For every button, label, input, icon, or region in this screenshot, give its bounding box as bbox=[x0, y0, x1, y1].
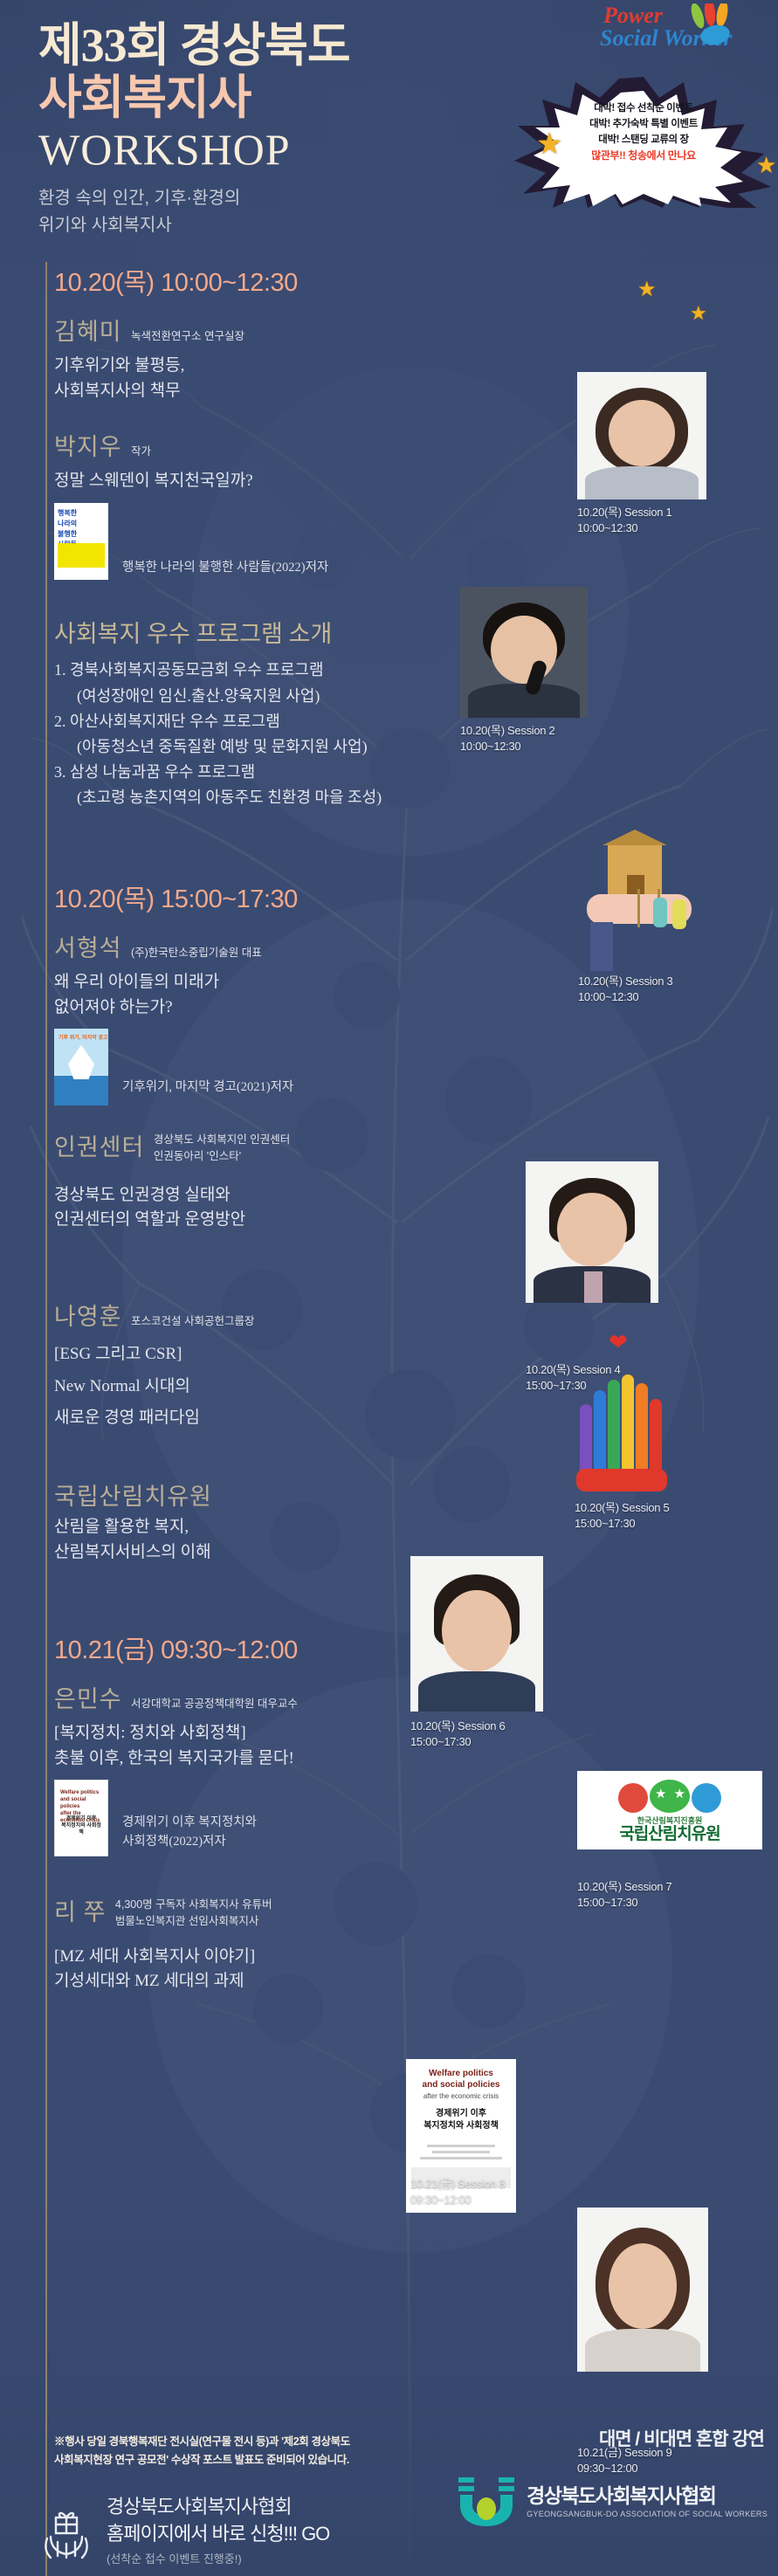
heart-icon: ❤ bbox=[609, 1329, 628, 1356]
speaker-affiliation-9-line1: 4,300명 구독자 사회복지사 유튜버 bbox=[115, 1897, 272, 1912]
session-tag-7-line2: 15:00~17:30 bbox=[577, 1895, 671, 1911]
footer-notice: ※행사 당일 경북행복재단 전시실(연구물 전시 등)과 '제2회 경상북도 사… bbox=[54, 2433, 568, 2470]
program-item-3: 3. 삼성 나눔과꿈 우수 프로그램 bbox=[54, 760, 762, 785]
session-tag-5: 10.20(목) Session 5 15:00~17:30 bbox=[575, 1500, 669, 1531]
apply-line3: (선착순 접수 이벤트 진행중!) bbox=[107, 2550, 329, 2566]
speaker-name-2: 박지우 bbox=[54, 428, 122, 462]
association-name-ko: 경상북도사회복지사협회 bbox=[527, 2485, 768, 2507]
speaker-photo-1 bbox=[577, 372, 706, 499]
star-icon-1: ★ bbox=[536, 129, 562, 159]
book3-cover-en2: and social policies bbox=[60, 1796, 102, 1810]
workshop-poster: Power Social Worker 제33회 경상북도 사회복지사 WORK… bbox=[0, 0, 778, 2576]
speaker-name-8: 은민수 bbox=[54, 1680, 122, 1714]
session-tag-1-line2: 10:00~12:30 bbox=[577, 520, 671, 536]
program-item-1: 1. 경북사회복지공동모금회 우수 프로그램 bbox=[54, 658, 762, 683]
session-tag-5-line2: 15:00~17:30 bbox=[575, 1516, 669, 1532]
book2-cover-line1: 기후 위기, bbox=[59, 1036, 80, 1041]
book1-cover-line2: 나라의 bbox=[58, 519, 105, 529]
speaker-name-7: 국립산림치유원 bbox=[54, 1477, 212, 1512]
book-citation-4: 기후위기, 마지막 경고(2021)저자 bbox=[122, 1078, 293, 1106]
session-tag-9-line1: 10.21(금) Session 9 bbox=[577, 2445, 671, 2461]
speaker-topic-9-line1: [MZ 세대 사회복지사 이야기] bbox=[54, 1945, 762, 1970]
speaker-affiliation-1: 녹색전환연구소 연구실장 bbox=[131, 328, 244, 344]
hand-house-illustration bbox=[578, 844, 718, 983]
subtitle-line2: 위기와 사회복지사 bbox=[38, 212, 778, 239]
book-citation-8-line1: 경제위기 이후 복지정치와 bbox=[122, 1814, 257, 1833]
session-tag-7-line1: 10.20(목) Session 7 bbox=[577, 1879, 671, 1895]
speaker-photo-2 bbox=[460, 587, 588, 718]
timeslot-3: 10.21(금) 09:30~12:00 bbox=[54, 1629, 762, 1666]
star-icon-2: ★ bbox=[756, 154, 776, 176]
speaker-affiliation-6: 포스코건설 사회공헌그룹장 bbox=[131, 1313, 254, 1329]
association-mark-icon bbox=[455, 2474, 518, 2530]
session-tag-1: 10.20(목) Session 1 10:00~12:30 bbox=[577, 505, 671, 535]
session-tag-9-line2: 09:30~12:00 bbox=[577, 2461, 671, 2476]
speaker-block-9: 리 쭈 4,300명 구독자 사회복지사 유튜버 범물노인복지관 선임사회복지사… bbox=[54, 1893, 762, 2033]
speaker-photo-4 bbox=[526, 1161, 658, 1303]
star-icon-3: ★ bbox=[637, 279, 657, 300]
session-tag-6-line1: 10.20(목) Session 6 bbox=[410, 1718, 505, 1734]
speaker-topic-6-line1: [ESG 그리고 CSR] bbox=[54, 1339, 762, 1370]
speaker-affiliation-8: 서강대학교 공공정책대학원 대우교수 bbox=[131, 1696, 298, 1712]
power-social-worker-logo: Power Social Worker bbox=[600, 5, 766, 68]
book-citation-8-line2: 사회정책(2022)저자 bbox=[122, 1833, 257, 1852]
leaves-icon bbox=[684, 3, 754, 51]
session-tag-1-line1: 10.20(목) Session 1 bbox=[577, 505, 671, 520]
program-section: 사회복지 우수 프로그램 소개 1. 경북사회복지공동모금회 우수 프로그램 (… bbox=[54, 615, 762, 833]
session-tag-6: 10.20(목) Session 6 15:00~17:30 bbox=[410, 1718, 505, 1749]
footer-notice-line2: 사회복지현장 연구 공모전' 수상작 포스트 발표도 준비되어 있습니다. bbox=[54, 2451, 568, 2469]
program-section-title: 사회복지 우수 프로그램 소개 bbox=[54, 615, 762, 649]
apply-line1: 경상북도사회복지사협회 bbox=[107, 2493, 329, 2521]
session-tag-7: 10.20(목) Session 7 15:00~17:30 bbox=[577, 1879, 671, 1910]
speaker-topic-9-line2: 기성세대와 MZ 세대의 과제 bbox=[54, 1969, 762, 1994]
speaker-name-5: 인권센터 bbox=[54, 1128, 144, 1162]
speaker-topic-7-line2: 산림복지서비스의 이해 bbox=[54, 1540, 762, 1566]
speaker-name-4: 서형석 bbox=[54, 929, 122, 963]
speaker-name-9: 리 쭈 bbox=[54, 1893, 106, 1927]
book3-cover-ko2: 복지정치와 사회정책 bbox=[60, 1822, 102, 1836]
speaker-photo-9 bbox=[577, 2208, 708, 2372]
speaker-affiliation-2: 작가 bbox=[131, 444, 151, 459]
book2-cover-line2: 마지막 경고 bbox=[82, 1036, 107, 1041]
book-cover-happy-country: 행복한 나라의 불행한 사람들 bbox=[54, 503, 108, 580]
speaker-topic-8-line2: 촛불 이후, 한국의 복지국가를 묻다! bbox=[54, 1746, 762, 1772]
speaker-topic-8-line1: [복지정치: 정치와 사회정책] bbox=[54, 1721, 762, 1746]
session-tag-2-line1: 10.20(목) Session 2 bbox=[460, 723, 554, 739]
speaker-name-1: 김혜미 bbox=[54, 313, 122, 347]
large-book-ko2: 복지정치와 사회정책 bbox=[413, 2120, 509, 2132]
book-cover-climate-warning: 기후 위기, 마지막 경고 bbox=[54, 1029, 108, 1105]
speaker-photo-6 bbox=[410, 1556, 543, 1712]
session-tag-4-line2: 15:00~17:30 bbox=[526, 1378, 620, 1394]
forest-logo-main: 국립산림치유원 bbox=[586, 1826, 754, 1844]
session-tag-3-line1: 10.20(목) Session 3 bbox=[578, 974, 672, 989]
large-book-en2: and social policies bbox=[413, 2079, 509, 2090]
program-item-2-sub: (아동청소년 중독질환 예방 및 문화지원 사업) bbox=[54, 734, 762, 760]
session-tag-8-line2: 09:30~12:00 bbox=[410, 2192, 505, 2208]
session-tag-4-line1: 10.20(목) Session 4 bbox=[526, 1362, 620, 1378]
book3-cover-en1: Welfare politics bbox=[60, 1789, 102, 1796]
book1-cover-line1: 행복한 bbox=[58, 508, 105, 519]
book1-cover-line3: 불행한 bbox=[58, 529, 105, 540]
book-cover-welfare-politics: Welfare politics and social policies aft… bbox=[54, 1780, 108, 1856]
book-citation-2: 행복한 나라의 불행한 사람들(2022)저자 bbox=[122, 559, 328, 580]
program-item-3-sub: (초고령 농촌지역의 아동주도 친환경 마을 조성) bbox=[54, 785, 762, 810]
program-item-1-sub: (여성장애인 임신.출산.양육지원 사업) bbox=[54, 684, 762, 709]
burst-line-1: 대박! 접수 선착순 이벤트 bbox=[513, 101, 775, 117]
large-book-en3: after the economic crisis bbox=[413, 2092, 509, 2100]
association-name-en: GYEONGSANGBUK-DO ASSOCIATION OF SOCIAL W… bbox=[527, 2510, 768, 2518]
session-tag-2-line2: 10:00~12:30 bbox=[460, 739, 554, 754]
session-tag-8-line1: 10.21(금) Session 8 bbox=[410, 2176, 505, 2192]
speaker-block-7: 국립산림치유원 산림을 활용한 복지, 산림복지서비스의 이해 bbox=[54, 1477, 762, 1591]
association-logo: 경상북도사회복지사협회 GYEONGSANGBUK-DO ASSOCIATION… bbox=[455, 2474, 768, 2530]
speaker-affiliation-4: (주)한국탄소중립기술원 대표 bbox=[131, 945, 262, 961]
book3-cover-ko1: 경제위기 이후 bbox=[60, 1815, 102, 1822]
program-item-2: 2. 아산사회복지재단 우수 프로그램 bbox=[54, 709, 762, 734]
session-tag-3-line2: 10:00~12:30 bbox=[578, 989, 672, 1005]
forest-healing-center-logo: ★ ★ 한국산림복지진흥원 국립산림치유원 bbox=[577, 1771, 762, 1849]
apply-line2[interactable]: 홈페이지에서 바로 신청!!! GO bbox=[107, 2520, 329, 2548]
session-tag-9: 10.21(금) Session 9 09:30~12:00 bbox=[577, 2445, 671, 2476]
vertical-rule bbox=[45, 262, 47, 2576]
speaker-affiliation-9: 4,300명 구독자 사회복지사 유튜버 범물노인복지관 선임사회복지사 bbox=[115, 1897, 272, 1928]
session-tag-4: 10.20(목) Session 4 15:00~17:30 bbox=[526, 1362, 620, 1393]
forest-logo-marks: ★ ★ bbox=[586, 1778, 754, 1813]
session-tag-2: 10.20(목) Session 2 10:00~12:30 bbox=[460, 723, 554, 754]
large-book-ko1: 경제위기 이후 bbox=[413, 2108, 509, 2120]
star-icon-4: ★ bbox=[690, 304, 707, 323]
speaker-name-6: 나영훈 bbox=[54, 1298, 122, 1332]
session-tag-3: 10.20(목) Session 3 10:00~12:30 bbox=[578, 974, 672, 1004]
speaker-affiliation-5: 경상북도 사회복지인 인권센터 인권동아리 '인스타' bbox=[154, 1132, 290, 1163]
footer-notice-line1: ※행사 당일 경북행복재단 전시실(연구물 전시 등)과 '제2회 경상북도 bbox=[54, 2433, 568, 2451]
large-book-en1: Welfare politics bbox=[413, 2068, 509, 2079]
speaker-affiliation-5-line2: 인권동아리 '인스타' bbox=[154, 1148, 290, 1164]
session-tag-8: 10.21(금) Session 8 09:30~12:00 bbox=[410, 2176, 505, 2207]
session-tag-5-line1: 10.20(목) Session 5 bbox=[575, 1500, 669, 1516]
gift-in-hands-icon bbox=[38, 2498, 94, 2561]
speaker-affiliation-5-line1: 경상북도 사회복지인 인권센터 bbox=[154, 1132, 290, 1147]
speaker-affiliation-9-line2: 범물노인복지관 선임사회복지사 bbox=[115, 1913, 272, 1929]
session-tag-6-line2: 15:00~17:30 bbox=[410, 1734, 505, 1750]
